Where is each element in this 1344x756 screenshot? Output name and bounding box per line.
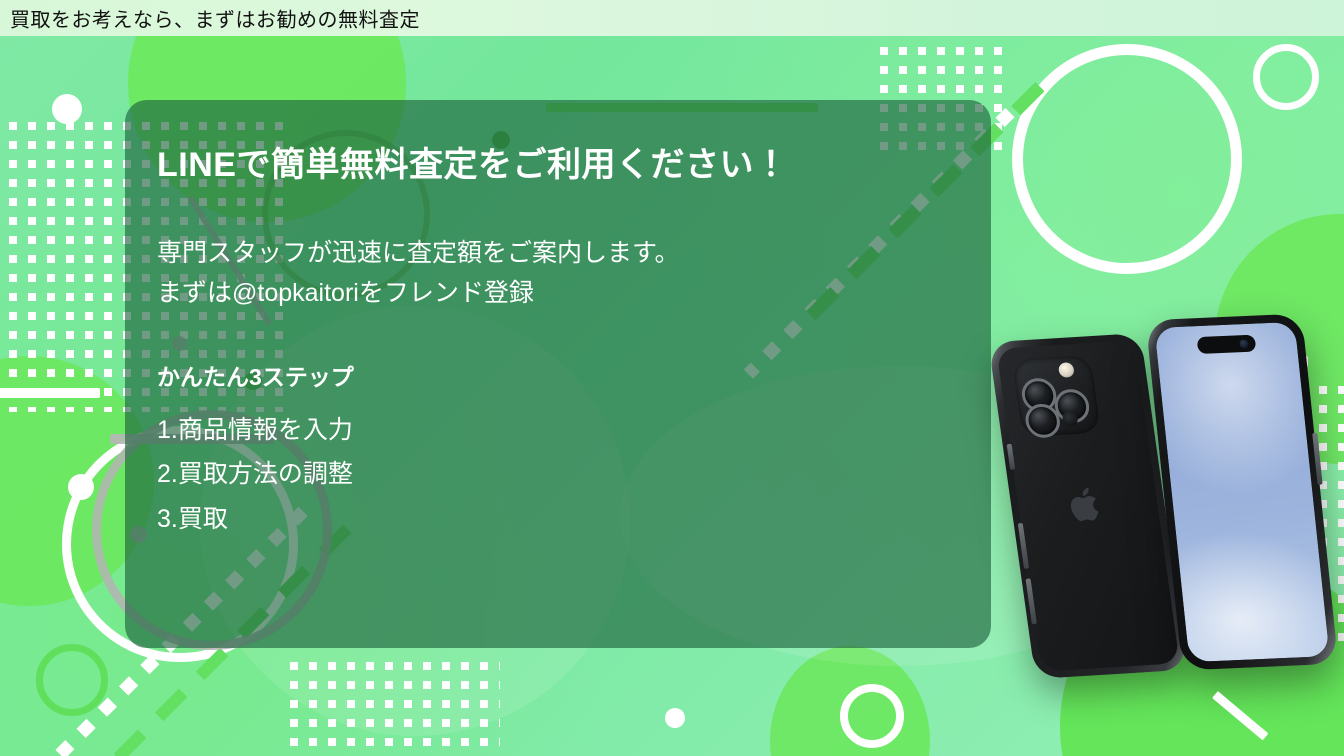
camera-flash-icon bbox=[1058, 362, 1075, 378]
circle-outline-green-bottom-left bbox=[36, 644, 108, 716]
dot-grid-bottom-center bbox=[290, 662, 500, 756]
horizontal-bar-white-left bbox=[0, 388, 100, 398]
page-title: 買取をお考えなら、まずはお勧めの無料査定 bbox=[10, 4, 420, 33]
circle-outline-bottom-center bbox=[840, 684, 904, 748]
front-camera-icon bbox=[1239, 339, 1249, 348]
dot-white-top-left bbox=[52, 94, 82, 124]
apple-logo-icon bbox=[1067, 484, 1109, 528]
dot-white-left-lower bbox=[68, 474, 94, 500]
product-phones bbox=[1004, 312, 1334, 756]
step-item: 2.買取方法の調整 bbox=[157, 452, 963, 497]
step-item: 3.買取 bbox=[157, 497, 963, 542]
card-title: LINEで簡単無料査定をご利用ください！ bbox=[157, 144, 963, 187]
steps-list: 1.商品情報を入力 2.買取方法の調整 3.買取 bbox=[157, 408, 963, 542]
blob-circle-bottom-center bbox=[770, 646, 930, 756]
dot-white-bottom-center bbox=[665, 708, 685, 728]
card-subtitle-line-1: 専門スタッフが迅速に査定額をご案内します。 bbox=[157, 233, 963, 274]
camera-island-icon bbox=[1012, 355, 1101, 437]
phone-volume-down-icon bbox=[1026, 578, 1037, 624]
dynamic-island-icon bbox=[1197, 335, 1257, 354]
steps-heading: かんたん3ステップ bbox=[157, 358, 963, 392]
phone-power-button-icon bbox=[1312, 433, 1322, 485]
circle-outline-small-top-right bbox=[1253, 44, 1319, 110]
promo-card: LINEで簡単無料査定をご利用ください！ 専門スタッフが迅速に査定額をご案内しま… bbox=[125, 100, 991, 648]
phone-screen bbox=[1154, 322, 1329, 662]
promo-card-content: LINEで簡単無料査定をご利用ください！ 専門スタッフが迅速に査定額をご案内しま… bbox=[157, 144, 963, 541]
page-header: 買取をお考えなら、まずはお勧めの無料査定 bbox=[0, 0, 1344, 36]
phone-volume-up-icon bbox=[1018, 523, 1029, 569]
card-subtitle: 専門スタッフが迅速に査定額をご案内します。 まずは@topkaitoriをフレン… bbox=[157, 233, 963, 314]
banner-root: LINEで簡単無料査定をご利用ください！ 専門スタッフが迅速に査定額をご案内しま… bbox=[0, 0, 1344, 756]
circle-outline-large-top-right bbox=[1012, 44, 1242, 274]
step-item: 1.商品情報を入力 bbox=[157, 408, 963, 453]
card-subtitle-line-2: まずは@topkaitoriをフレンド登録 bbox=[157, 273, 963, 314]
phone-mute-switch-icon bbox=[1007, 444, 1016, 470]
